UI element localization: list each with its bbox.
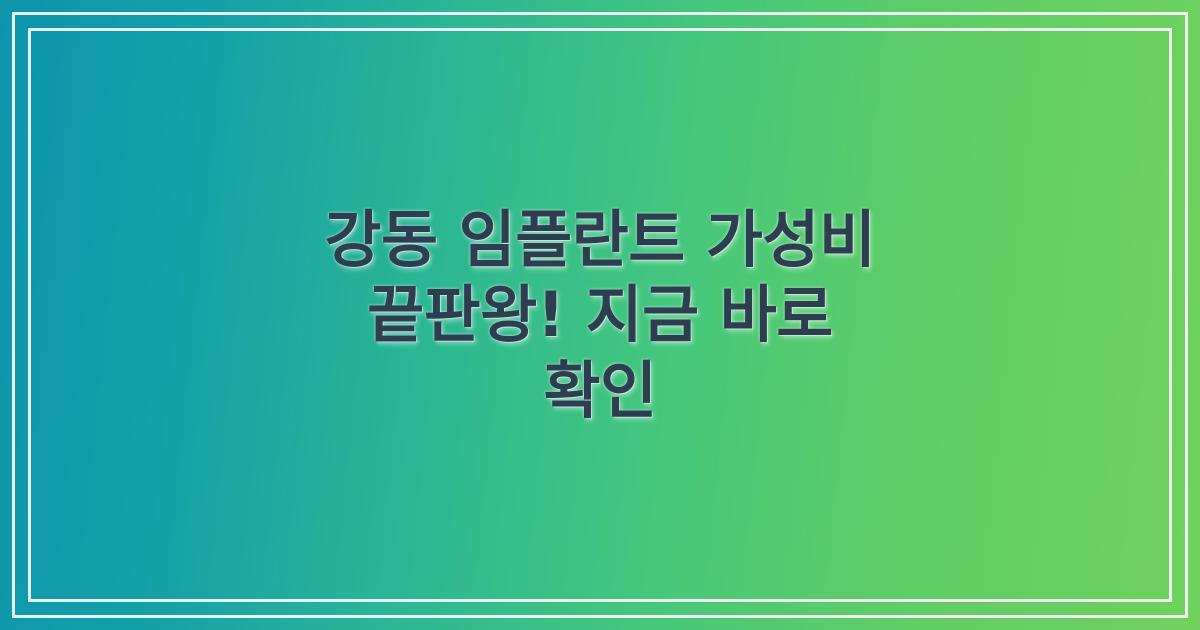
headline-container: 강동 임플란트 가성비 끝판왕! 지금 바로 확인 bbox=[0, 0, 1200, 630]
headline-text: 강동 임플란트 가성비 끝판왕! 지금 바로 확인 bbox=[150, 202, 1050, 429]
thumbnail-card: 강동 임플란트 가성비 끝판왕! 지금 바로 확인 bbox=[0, 0, 1200, 630]
